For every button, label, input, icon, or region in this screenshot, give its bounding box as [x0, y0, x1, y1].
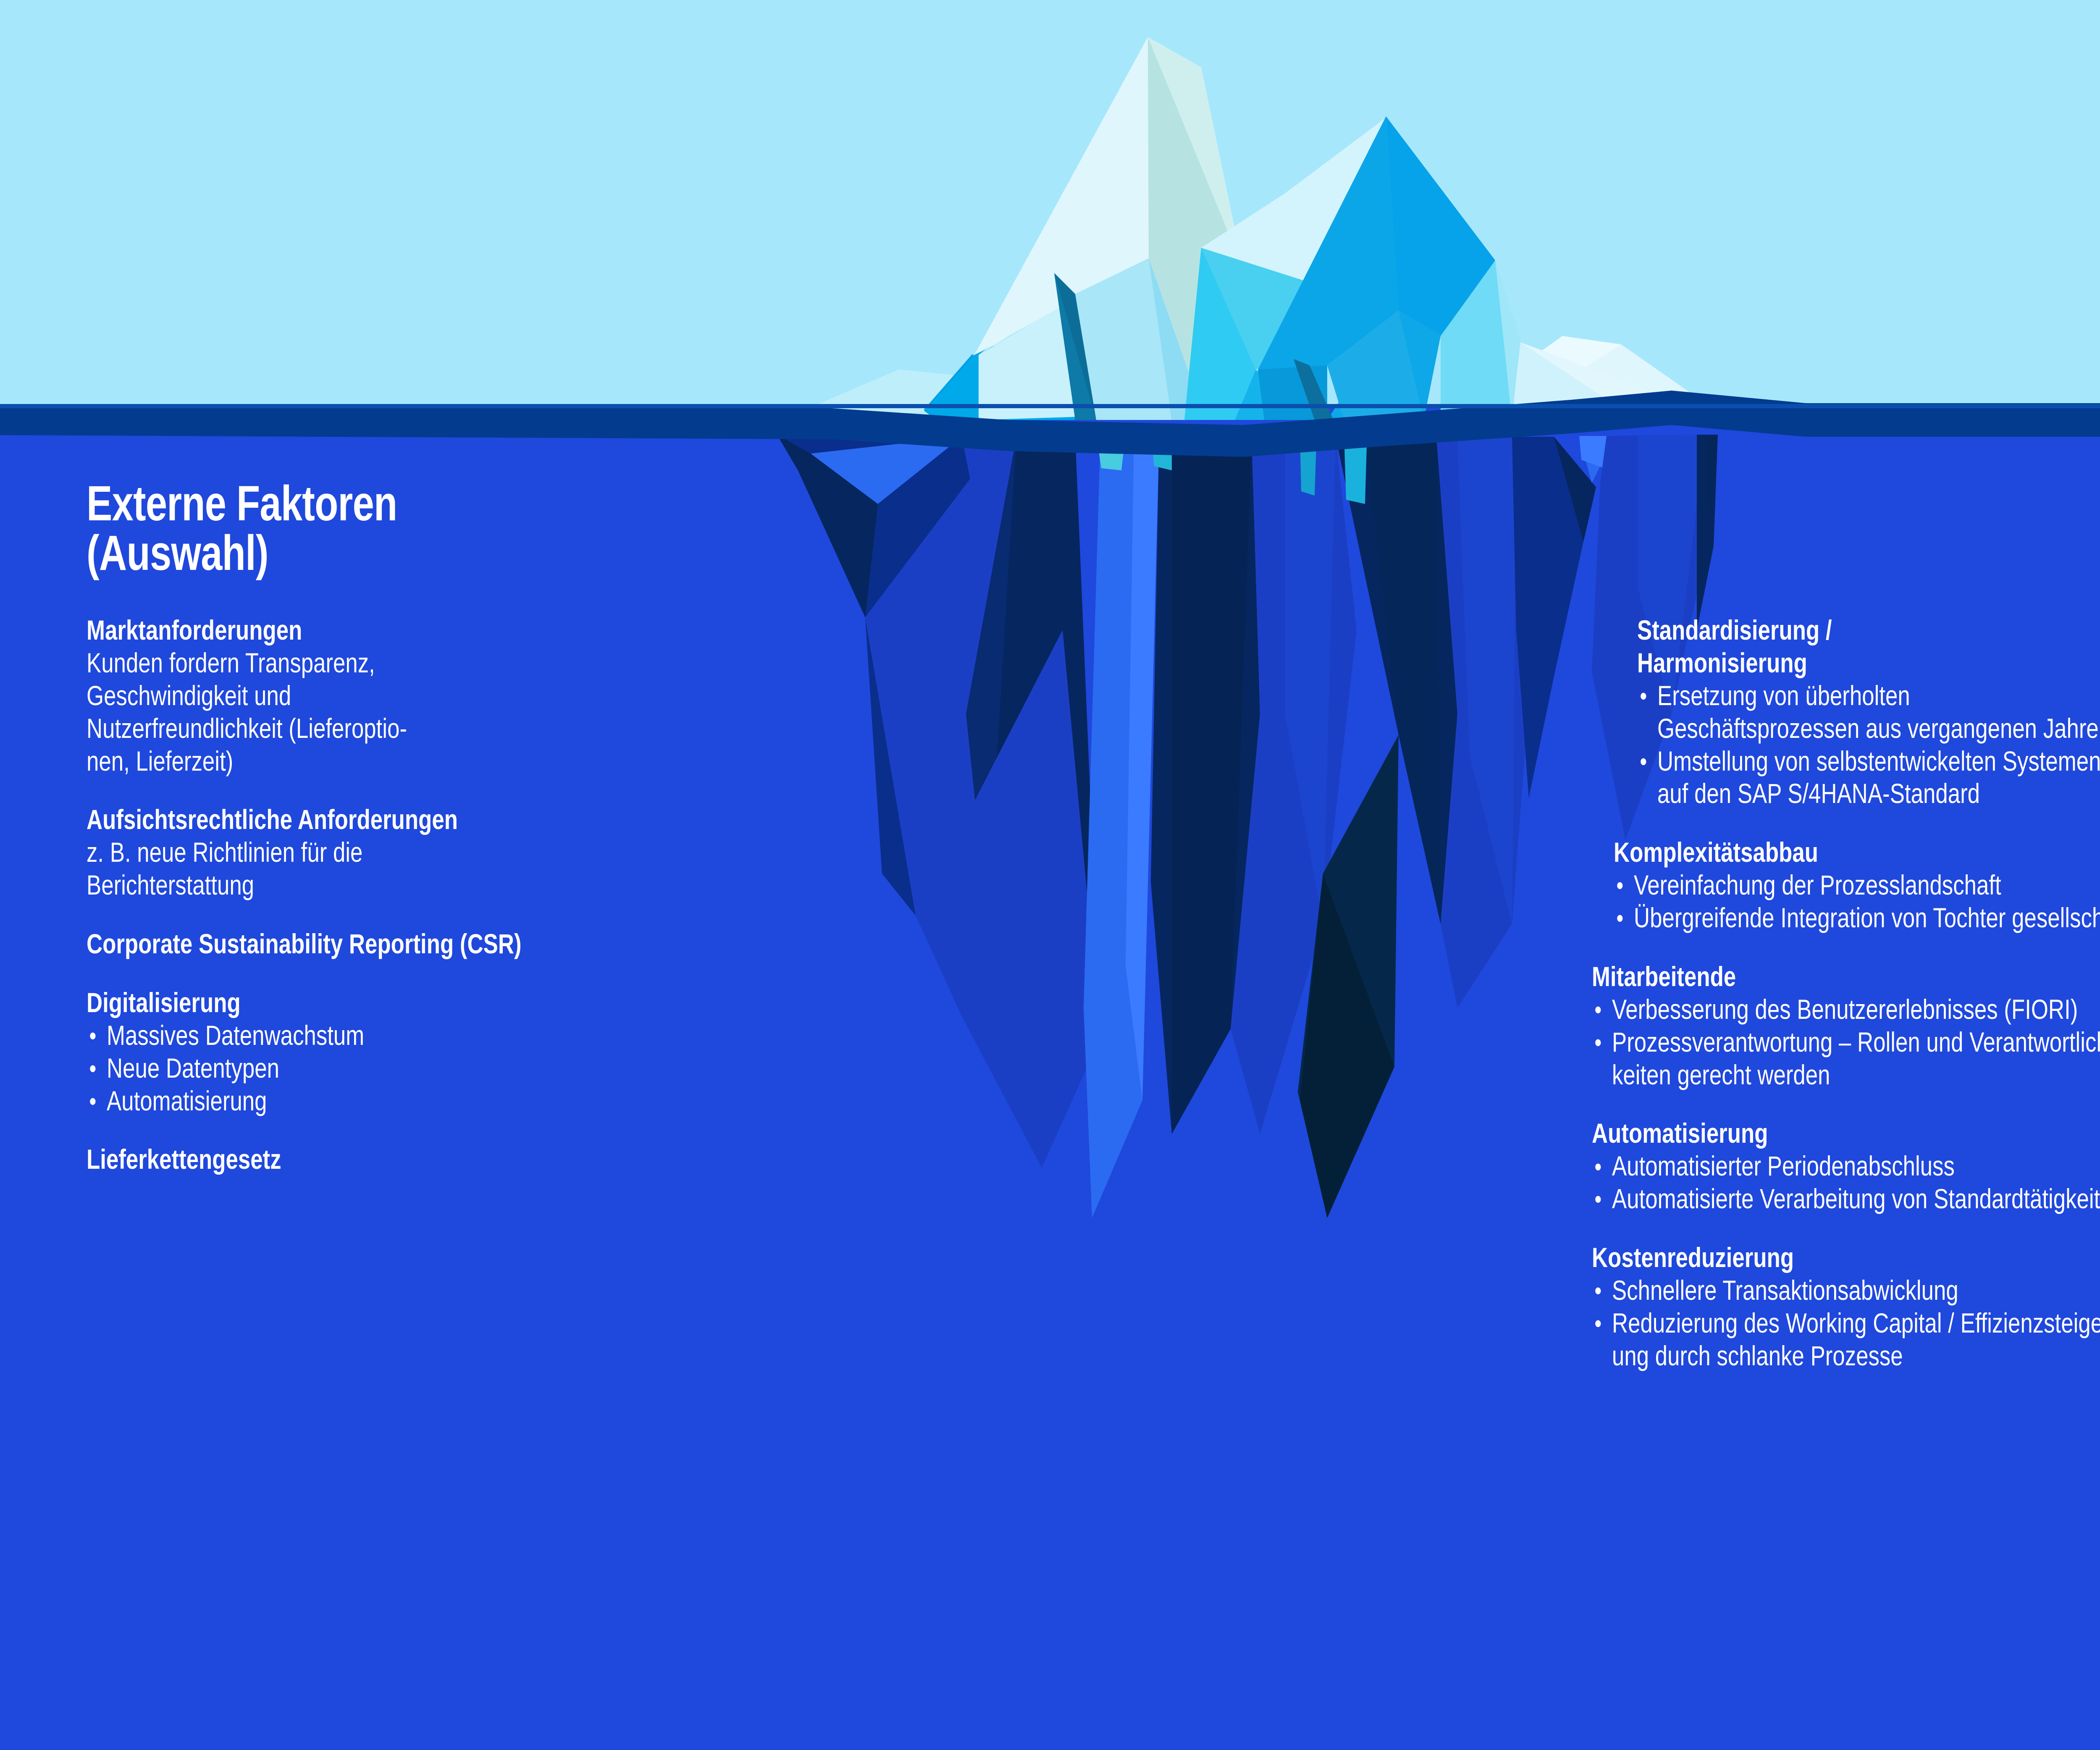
section-mitarbeitende: Mitarbeitende • Verbesserung des Benutze… [1592, 960, 2100, 1091]
section-title: Standardisierung / Harmonisierung [1637, 614, 2100, 680]
internal-factors-column: Interne Faktoren (Auswahl) Standardisier… [1592, 479, 2100, 1372]
bullet-list: • Vereinfachung der Prozesslandschaft • … [1614, 869, 2100, 934]
section-body-line: Nutzerfreundlichkeit (Lieferoptio- [87, 712, 851, 745]
bullet-dot-icon: • [89, 1086, 96, 1117]
list-item: • Schnellere Transaktionsabwicklung [1592, 1274, 2100, 1307]
bullet-text: Schnellere Transaktionsabwicklung [1612, 1275, 1958, 1306]
bullet-text-cont: auf den SAP S/4HANA-Standard [1657, 777, 2100, 810]
section-title-line1: Standardisierung / [1637, 614, 1832, 645]
bullet-dot-icon: • [1594, 995, 1601, 1025]
internal-factors-heading: Interne Faktoren (Auswahl) [1593, 479, 2100, 578]
bullet-text: Automatisierter Periodenabschluss [1612, 1150, 1955, 1181]
iceberg-submerged-group [777, 433, 1718, 1218]
bullet-dot-icon: • [89, 1054, 96, 1084]
iceberg-tip-group [781, 37, 1705, 421]
bullet-list: • Verbesserung des Benutzererlebnisses (… [1592, 993, 2100, 1091]
section-title: Automatisierung [1592, 1117, 2100, 1150]
bullet-dot-icon: • [1640, 747, 1647, 777]
list-item: • Reduzierung des Working Capital / Effi… [1592, 1307, 2100, 1372]
bullet-dot-icon: • [1594, 1152, 1601, 1182]
list-item: • Umstellung von selbstentwickelten Syst… [1637, 745, 2100, 811]
bullet-text: Ersetzung von überholten [1657, 680, 1910, 711]
section-standardisierung-harmonisierung: Standardisierung / Harmonisierung • Erse… [1637, 614, 2100, 810]
section-title-line2: Harmonisierung [1637, 647, 2100, 680]
bullet-text-cont: keiten gerecht werden [1612, 1059, 2100, 1091]
bullet-dot-icon: • [1594, 1184, 1601, 1215]
bullet-text-cont: ung durch schlanke Prozesse [1612, 1340, 2100, 1372]
bullet-dot-icon: • [89, 1021, 96, 1051]
section-kostenreduzierung: Kostenreduzierung • Schnellere Transakti… [1592, 1241, 2100, 1372]
section-body-line: Kunden fordern Transparenz, [87, 647, 851, 680]
sub-facet-right-bright-tri2 [1579, 436, 1606, 468]
bullet-dot-icon: • [1594, 1276, 1601, 1306]
external-heading-line2: (Auswahl) [87, 528, 850, 578]
section-marktanforderungen: Marktanforderungen Kunden fordern Transp… [87, 614, 851, 777]
list-item: • Automatisierter Periodenabschluss [1592, 1150, 2100, 1183]
section-komplexitaetsabbau: Komplexitätsabbau • Vereinfachung der Pr… [1614, 836, 2100, 934]
waterline-edge-top [0, 404, 2100, 408]
iceberg-infographic: Externe Faktoren (Auswahl) Marktanforder… [0, 0, 2100, 1750]
bullet-dot-icon: • [1616, 871, 1623, 901]
section-corporate-sustainability-reporting: Corporate Sustainability Reporting (CSR) [87, 928, 851, 960]
section-digitalisierung: Digitalisierung • Massives Datenwachstum… [87, 987, 851, 1118]
list-item: • Massives Datenwachstum [87, 1019, 851, 1052]
bullet-list: • Ersetzung von überholten Geschäftsproz… [1637, 680, 2100, 811]
bullet-text: Automatisierung [107, 1085, 267, 1116]
bullet-text: Prozessverantwortung – Rollen und Verant… [1612, 1026, 2100, 1057]
bullet-list: • Massives Datenwachstum • Neue Datentyp… [87, 1019, 851, 1118]
bullet-text: Massives Datenwachstum [107, 1020, 364, 1051]
list-item: • Neue Datentypen [87, 1052, 851, 1085]
bullet-text: Umstellung von selbstentwickelten System… [1657, 745, 2100, 777]
section-aufsichtsrechtliche-anforderungen: Aufsichtsrechtliche Anforderungen z. B. … [87, 803, 851, 902]
list-item: • Ersetzung von überholten Geschäftsproz… [1637, 680, 2100, 745]
section-body-line: Geschwindigkeit und [87, 680, 851, 712]
bullet-dot-icon: • [1640, 681, 1647, 711]
list-item: • Automatisierung [87, 1085, 851, 1118]
section-title: Corporate Sustainability Reporting (CSR) [87, 928, 851, 960]
section-title: Mitarbeitende [1592, 960, 2100, 993]
section-title: Komplexitätsabbau [1614, 836, 2100, 869]
section-title: Kostenreduzierung [1592, 1241, 2100, 1274]
list-item: • Vereinfachung der Prozesslandschaft [1614, 869, 2100, 902]
external-factors-column: Externe Faktoren (Auswahl) Marktanforder… [87, 479, 851, 1176]
bullet-text: Reduzierung des Working Capital / Effizi… [1612, 1307, 2100, 1338]
bullet-dot-icon: • [1594, 1028, 1601, 1058]
section-lieferkettengesetz: Lieferkettengesetz [87, 1143, 851, 1176]
bullet-dot-icon: • [1616, 903, 1623, 934]
bullet-list: • Automatisierter Periodenabschluss • Au… [1592, 1150, 2100, 1215]
bullet-list: • Schnellere Transaktionsabwicklung • Re… [1592, 1274, 2100, 1372]
section-title: Aufsichtsrechtliche Anforderungen [87, 803, 851, 836]
section-body-line: z. B. neue Richtlinien für die [87, 836, 851, 869]
list-item: • Prozessverantwortung – Rollen und Vera… [1592, 1026, 2100, 1091]
external-factors-heading: Externe Faktoren (Auswahl) [87, 479, 850, 578]
section-title: Marktanforderungen [87, 614, 851, 647]
external-heading-line1: Externe Faktoren [87, 476, 397, 531]
section-automatisierung: Automatisierung • Automatisierter Period… [1592, 1117, 2100, 1215]
section-body-line: Berichterstattung [87, 869, 851, 902]
section-body-line: nen, Lieferzeit) [87, 745, 851, 778]
section-title: Lieferkettengesetz [87, 1143, 851, 1176]
bullet-text-cont: Geschäftsprozessen aus vergangenen Jahre… [1657, 712, 2100, 745]
bullet-text: Automatisierte Verarbeitung von Standard… [1612, 1183, 2100, 1214]
section-title: Digitalisierung [87, 987, 851, 1019]
list-item: • Automatisierte Verarbeitung von Standa… [1592, 1183, 2100, 1215]
bullet-text: Verbesserung des Benutzererlebnisses (FI… [1612, 994, 2078, 1025]
internal-heading-line2: (Auswahl) [1593, 528, 2100, 578]
list-item: • Verbesserung des Benutzererlebnisses (… [1592, 993, 2100, 1026]
bullet-dot-icon: • [1594, 1309, 1601, 1339]
bullet-text: Vereinfachung der Prozesslandschaft [1634, 869, 2001, 900]
bullet-text: Neue Datentypen [107, 1052, 279, 1084]
list-item: • Übergreifende Integration von Tochter … [1614, 902, 2100, 934]
bullet-text: Übergreifende Integration von Tochter ge… [1634, 902, 2100, 933]
